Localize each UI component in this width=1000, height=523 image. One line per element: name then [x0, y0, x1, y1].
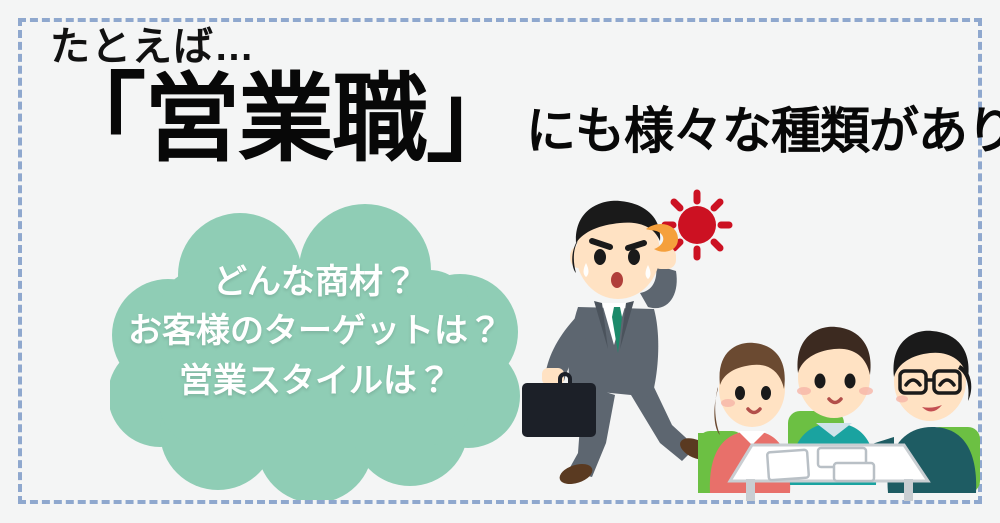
cloud-line-1: どんな商材？ [110, 258, 520, 307]
headline-eyebrow: たとえば… [50, 26, 970, 68]
headline-emphasis: 「営業職」 [50, 72, 520, 168]
cloud-speech-bubble: どんな商材？ お客様のターゲットは？ 営業スタイルは？ [110, 200, 520, 500]
headline-tail: にも様々な種類があります! [526, 106, 1000, 156]
briefcase-icon [522, 374, 596, 437]
businessman-suit [569, 301, 659, 397]
headline-row: 「営業職」 にも様々な種類があります! [50, 72, 970, 168]
cloud-line-2: お客様のターゲットは？ [110, 307, 520, 356]
cloud-bubble-text: どんな商材？ お客様のターゲットは？ 営業スタイルは？ [110, 258, 520, 406]
meeting-illustration [690, 285, 985, 503]
headline-block: たとえば… 「営業職」 にも様々な種類があります! [50, 26, 970, 168]
cloud-line-3: 営業スタイルは？ [110, 357, 520, 406]
banner-root: たとえば… 「営業職」 にも様々な種類があります! [0, 0, 1000, 523]
